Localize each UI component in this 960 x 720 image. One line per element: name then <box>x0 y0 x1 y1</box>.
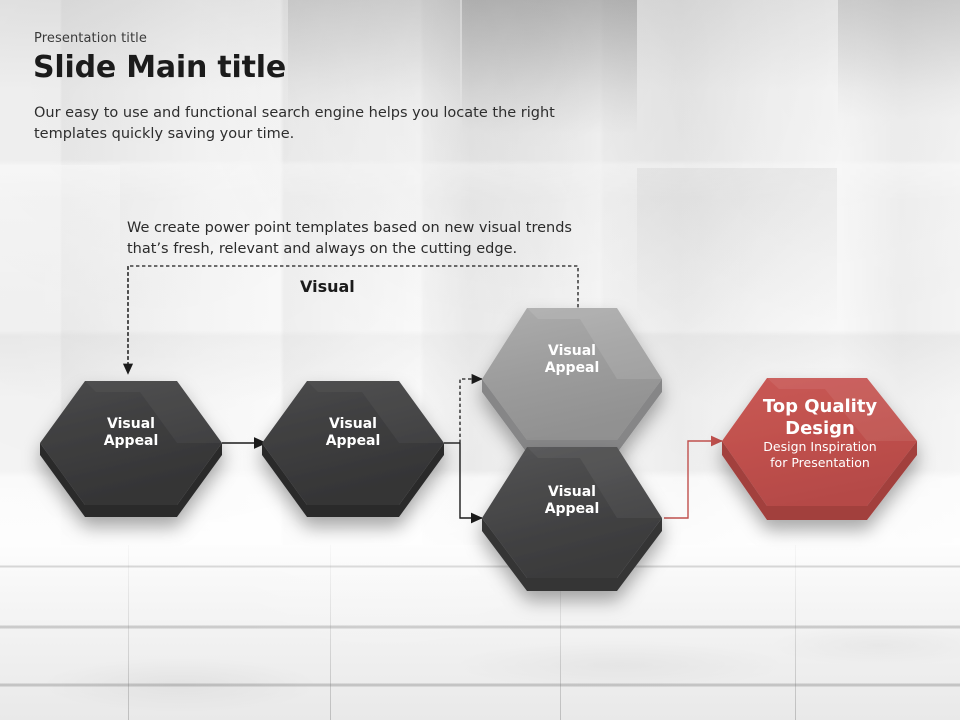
hexagon-node-3-top[interactable] <box>482 308 662 453</box>
hexagon-node-2[interactable] <box>262 381 444 517</box>
presentation-slide: Presentation title Slide Main title Our … <box>0 0 960 720</box>
connector-to-result-red <box>664 441 722 518</box>
hexagon-node-5-result[interactable] <box>722 378 917 520</box>
connector-hex2-split <box>444 379 482 518</box>
hexagon-node-4-bottom[interactable] <box>482 447 662 591</box>
hexagon-node-1[interactable] <box>40 381 222 517</box>
diagram-overlay <box>0 0 960 720</box>
